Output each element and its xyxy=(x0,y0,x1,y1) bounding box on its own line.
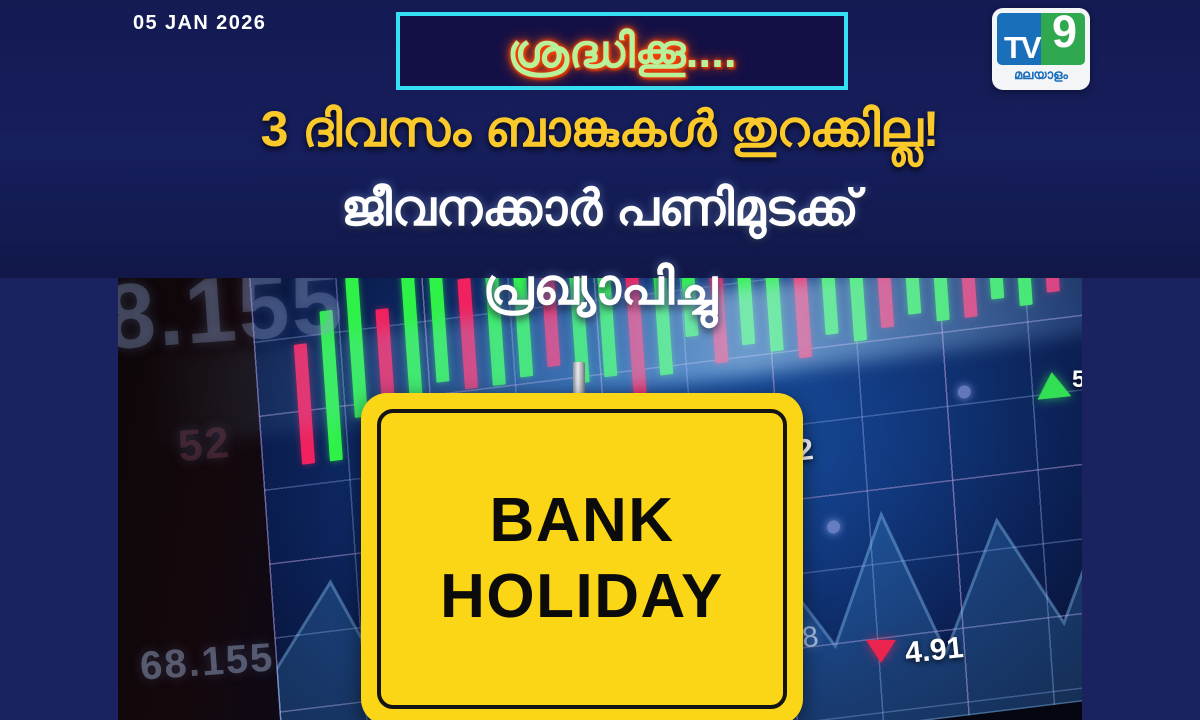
price-watermark-secondary: 52 xyxy=(176,418,233,472)
logo-language-text: മലയാളം xyxy=(997,65,1085,86)
edge-value-label: 5 xyxy=(1072,366,1082,394)
sign-text: BANK HOLIDAY xyxy=(377,409,787,709)
price-watermark-68155: 68.155 xyxy=(139,635,276,689)
date-label: 05 JAN 2026 xyxy=(133,12,266,35)
marker-value: 4.91 xyxy=(903,631,965,671)
attention-banner-box: ശ്രദ്ധിക്കൂ.... xyxy=(396,12,848,90)
logo-tiles: TV 9 xyxy=(997,13,1085,65)
logo-tv-text: TV xyxy=(1004,32,1040,63)
header-band: 05 JAN 2026 ശ്രദ്ധിക്കൂ.... TV 9 മലയാളം … xyxy=(0,0,1200,278)
tv9-malayalam-logo: TV 9 മലയാളം xyxy=(992,8,1090,90)
headline-line-1: 3 ദിവസം ബാങ്കുകൾ തുറക്കില്ല! xyxy=(0,104,1200,154)
headline-line-2: ജീവനക്കാർ പണിമുടക്ക് xyxy=(0,183,1200,233)
marker-down-491: 4.91 xyxy=(866,634,963,668)
triangle-up-icon-edge xyxy=(1035,370,1072,399)
sign-line-1: BANK xyxy=(489,490,674,552)
triangle-down-icon xyxy=(866,640,896,663)
bank-holiday-sign: BANK HOLIDAY xyxy=(361,393,803,720)
sign-line-2: HOLIDAY xyxy=(440,566,724,628)
logo-nine-text: 9 xyxy=(1052,13,1077,54)
news-graphic-card: 8.155 52 68.155 69.178 4.72 4.91 5 BANK … xyxy=(0,0,1200,720)
attention-banner-text: ശ്രദ്ധിക്കൂ.... xyxy=(507,28,736,74)
headline-line-3: പ്രഖ്യാപിച്ചു xyxy=(0,262,1200,312)
